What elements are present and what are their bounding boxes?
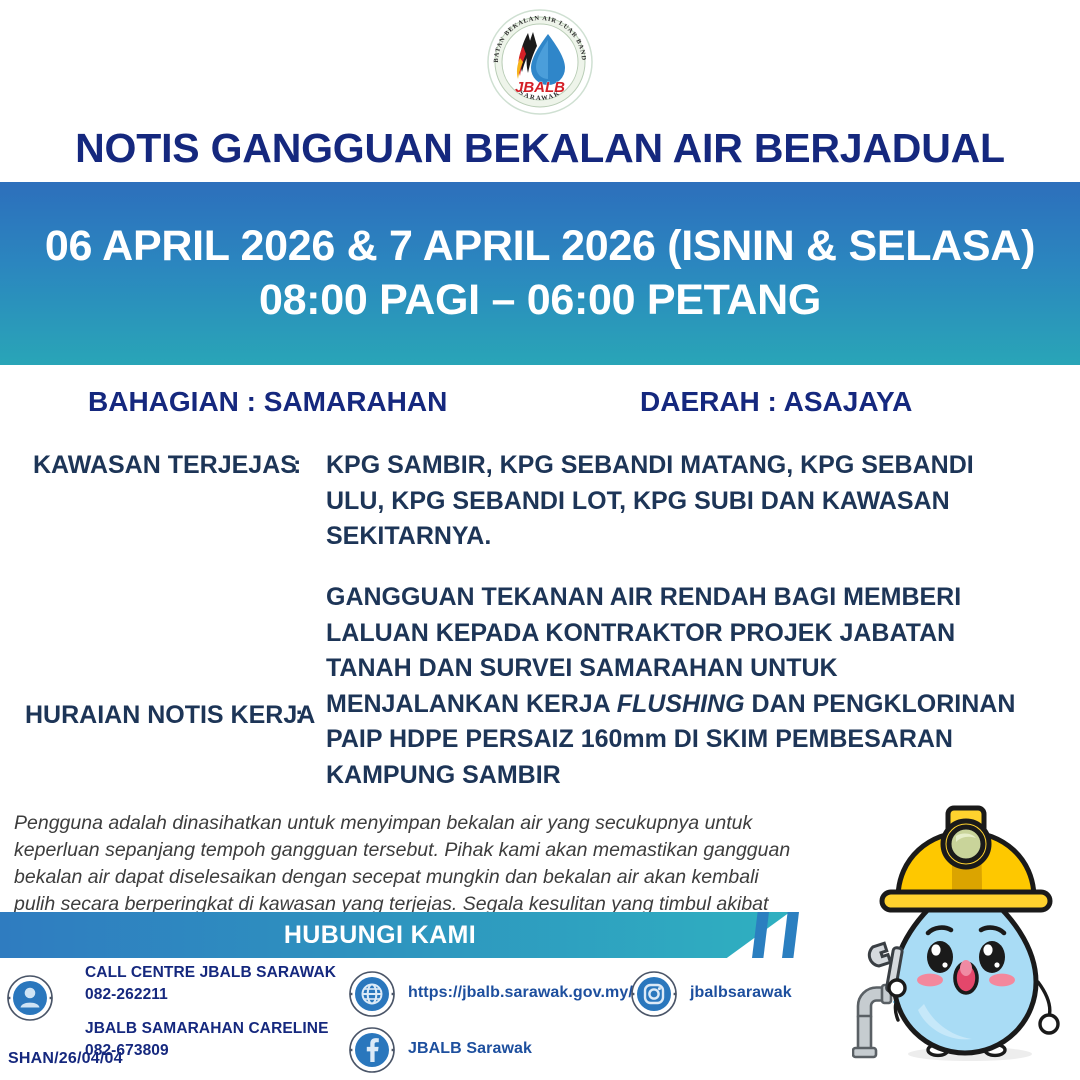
instagram-icon[interactable]	[630, 970, 678, 1018]
date-time-banner: 06 APRIL 2026 & 7 APRIL 2026 (ISNIN & SE…	[0, 182, 1080, 365]
globe-icon[interactable]	[348, 970, 396, 1018]
huraian-colon: :	[295, 698, 303, 734]
daerah-label: DAERAH : ASAJAYA	[640, 386, 912, 418]
water-droplet-mascot	[852, 792, 1078, 1080]
banner-time-line: 08:00 PAGI – 06:00 PETANG	[259, 274, 821, 328]
decorative-slash-icon	[782, 912, 799, 958]
huraian-notis-kerja-block: HURAIAN NOTIS KERJA : GANGGUAN TEKANAN A…	[0, 580, 1080, 760]
page-title: NOTIS GANGGUAN BEKALAN AIR BERJADUAL	[0, 126, 1080, 171]
location-row: BAHAGIAN : SAMARAHAN DAERAH : ASAJAYA	[0, 386, 1080, 426]
person-icon	[6, 974, 54, 1022]
call-centre-title: CALL CENTRE JBALB SARAWAK	[85, 964, 336, 982]
facebook-handle[interactable]: JBALB Sarawak	[408, 1040, 532, 1058]
notice-poster: JBALB JABATAN BEKALAN AIR LUAR BANDAR SA…	[0, 0, 1080, 1080]
kawasan-terjejas-label: KAWASAN TERJEJAS	[33, 448, 297, 484]
huraian-notis-kerja-value: GANGGUAN TEKANAN AIR RENDAH BAGI MEMBERI…	[326, 580, 1026, 793]
careline-title: JBALB SAMARAHAN CARELINE	[85, 1020, 329, 1038]
kawasan-terjejas-block: KAWASAN TERJEJAS : KPG SAMBIR, KPG SEBAN…	[0, 448, 1080, 548]
hubungi-kami-heading: HUBUNGI KAMI	[284, 921, 476, 950]
huraian-notis-kerja-label: HURAIAN NOTIS KERJA	[25, 698, 315, 734]
huraian-text-italic: FLUSHING	[617, 690, 745, 718]
kawasan-colon: :	[293, 448, 301, 484]
facebook-icon[interactable]	[348, 1026, 396, 1074]
bahagian-label: BAHAGIAN : SAMARAHAN	[88, 386, 447, 418]
banner-date-line: 06 APRIL 2026 & 7 APRIL 2026 (ISNIN & SE…	[45, 220, 1035, 274]
hubungi-kami-bar: HUBUNGI KAMI	[0, 912, 790, 958]
jbalb-seal-logo: JBALB JABATAN BEKALAN AIR LUAR BANDAR SA…	[486, 8, 594, 116]
instagram-handle[interactable]: jbalbsarawak	[690, 984, 792, 1002]
logo-container: JBALB JABATAN BEKALAN AIR LUAR BANDAR SA…	[0, 6, 1080, 118]
website-url[interactable]: https://jbalb.sarawak.gov.my/	[408, 984, 633, 1002]
reference-code: SHAN/26/04/04	[8, 1050, 123, 1068]
kawasan-terjejas-value: KPG SAMBIR, KPG SEBANDI MATANG, KPG SEBA…	[326, 448, 1026, 555]
call-centre-number[interactable]: 082-262211	[85, 986, 168, 1004]
